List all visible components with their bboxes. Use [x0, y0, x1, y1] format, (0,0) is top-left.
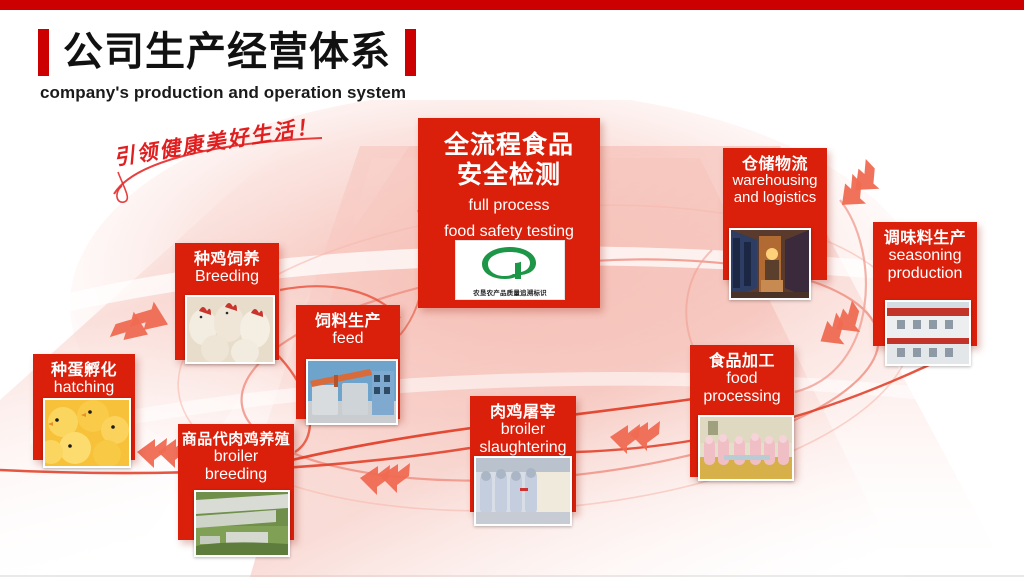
- node-label-en-line2: slaughtering: [472, 439, 574, 457]
- thumbnail-seasoning-plant: [885, 300, 971, 366]
- node-label-en-line2: food safety testing: [420, 222, 598, 242]
- node-label: 肉鸡屠宰 broiler slaughtering: [470, 403, 576, 457]
- node-label-cn: 种鸡饲养: [177, 250, 277, 268]
- node-label-en-line2: and logistics: [725, 190, 825, 207]
- feed-silos-photo: [308, 361, 396, 423]
- thumbnail-feed-mill: [306, 359, 398, 425]
- thumbnail-warehouse: [729, 228, 811, 300]
- certificate-caption: 农垦农产品质量追溯标识: [456, 287, 564, 297]
- page-title: 公司生产经营体系: [38, 26, 416, 78]
- title-english: company's production and operation syste…: [40, 83, 406, 103]
- node-label-cn: 种蛋孵化: [35, 361, 133, 379]
- node-label-en: hatching: [35, 379, 133, 397]
- node-label-en-line1: full process: [420, 196, 598, 216]
- thumbnail-food-processing: [698, 415, 794, 481]
- node-label: 全流程食品 安全检测 full process food safety test…: [418, 130, 600, 242]
- top-accent-bar: [0, 0, 1024, 10]
- node-label-en-line1: seasoning: [875, 247, 975, 265]
- node-label-en-line1: broiler: [180, 448, 292, 466]
- thumbnail-yellow-chicks: [43, 398, 131, 468]
- node-broiler-slaughtering[interactable]: 肉鸡屠宰 broiler slaughtering: [470, 396, 576, 512]
- node-label: 种蛋孵化 hatching: [33, 361, 135, 397]
- green-traceability-logo-icon: [479, 245, 541, 281]
- node-label-cn-line2: 安全检测: [420, 160, 598, 190]
- node-label-cn: 调味料生产: [875, 229, 975, 247]
- node-label: 仓储物流 warehousing and logistics: [723, 155, 827, 207]
- node-label-en-line1: food: [692, 370, 792, 388]
- node-label-en-line1: broiler: [472, 421, 574, 439]
- processing-workers-photo: [700, 417, 792, 479]
- thumbnail-slaughter-line: [474, 456, 572, 526]
- warehouse-racks-photo: [731, 230, 809, 298]
- node-label: 商品代肉鸡养殖 broiler breeding: [178, 431, 294, 484]
- node-label: 种鸡饲养 Breeding: [175, 250, 279, 286]
- broiler-farm-photo: [196, 492, 288, 555]
- node-label: 食品加工 food processing: [690, 352, 794, 406]
- node-full-process-testing[interactable]: 全流程食品 安全检测 full process food safety test…: [418, 118, 600, 308]
- node-broiler-breeding[interactable]: 商品代肉鸡养殖 broiler breeding: [178, 424, 294, 540]
- node-food-processing[interactable]: 食品加工 food processing: [690, 345, 794, 477]
- node-label-cn: 食品加工: [692, 352, 792, 370]
- node-seasoning-production[interactable]: 调味料生产 seasoning production: [873, 222, 977, 346]
- node-label-cn: 商品代肉鸡养殖: [180, 431, 292, 448]
- node-label: 调味料生产 seasoning production: [873, 229, 977, 283]
- node-label-en-line2: processing: [692, 388, 792, 406]
- node-label-cn: 饲料生产: [298, 312, 398, 330]
- node-feed[interactable]: 饲料生产 feed: [296, 305, 400, 419]
- node-label-cn: 肉鸡屠宰: [472, 403, 574, 421]
- node-warehousing-logistics[interactable]: 仓储物流 warehousing and logistics: [723, 148, 827, 280]
- slaughter-line-photo: [476, 458, 570, 524]
- title-right-marker: [405, 29, 416, 76]
- node-label-cn: 仓储物流: [725, 155, 825, 173]
- hens-photo: [187, 297, 273, 362]
- node-label-en-line2: breeding: [180, 466, 292, 484]
- node-label-en-line1: warehousing: [725, 173, 825, 190]
- title-chinese: 公司生产经营体系: [63, 29, 391, 76]
- calligraphy-slogan: 引领健康美好生活！: [108, 132, 338, 204]
- thumbnail-broiler-farm: [194, 490, 290, 557]
- factory-building-photo: [887, 302, 969, 364]
- node-label-en-line2: production: [875, 265, 975, 283]
- node-label-cn-line1: 全流程食品: [420, 130, 598, 160]
- node-breeding[interactable]: 种鸡饲养 Breeding: [175, 243, 279, 360]
- node-hatching[interactable]: 种蛋孵化 hatching: [33, 354, 135, 460]
- chicks-photo: [45, 400, 129, 466]
- slide-canvas: 公司生产经营体系 company's production and operat…: [0, 0, 1024, 577]
- node-label-en: Breeding: [177, 268, 277, 286]
- node-label: 饲料生产 feed: [296, 312, 400, 348]
- traceability-certificate: 农垦农产品质量追溯标识: [455, 240, 565, 300]
- node-label-en: feed: [298, 330, 398, 348]
- thumbnail-breeder-hens: [185, 295, 275, 364]
- title-left-marker: [38, 29, 49, 76]
